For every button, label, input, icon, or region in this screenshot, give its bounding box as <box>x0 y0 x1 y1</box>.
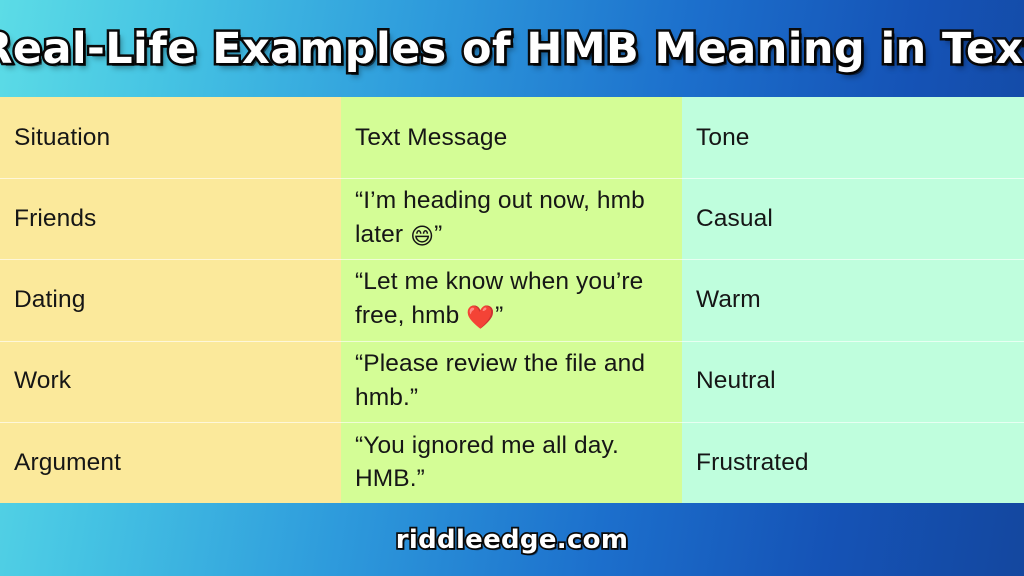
situation-value: Dating <box>14 283 85 317</box>
cell-tone: Neutral <box>682 341 1024 422</box>
grinning-face-emoji: 😄 <box>410 224 434 250</box>
situation-value: Argument <box>14 446 121 480</box>
cell-tone: Frustrated <box>682 422 1024 503</box>
column-header-situation-label: Situation <box>14 121 110 155</box>
tone-value: Casual <box>696 202 773 236</box>
cell-situation: Dating <box>0 259 341 340</box>
column-header-text-message: Text Message <box>341 97 682 178</box>
cell-tone: Casual <box>682 178 1024 259</box>
table-row: Argument “You ignored me all day. HMB.” … <box>0 422 1024 503</box>
cell-tone: Warm <box>682 259 1024 340</box>
tone-value: Neutral <box>696 364 776 398</box>
infographic-canvas: Real-Life Examples of HMB Meaning in Tex… <box>0 0 1024 576</box>
tone-value: Warm <box>696 283 761 317</box>
site-watermark: riddleedge.com <box>396 525 628 555</box>
message-closing-quote: ” <box>434 221 442 248</box>
message-text: “I’m heading out now, hmb later <box>355 187 645 248</box>
table-row: Dating “Let me know when you’re free, hm… <box>0 259 1024 340</box>
message-value: “Let me know when you’re free, hmb ❤️” <box>355 265 668 335</box>
message-value: “You ignored me all day. HMB.” <box>355 429 668 497</box>
column-header-situation: Situation <box>0 97 341 178</box>
tone-value: Frustrated <box>696 446 809 480</box>
cell-text-message: “Please review the file and hmb.” <box>341 341 682 422</box>
table-header-row: Situation Text Message Tone <box>0 97 1024 178</box>
table-row: Work “Please review the file and hmb.” N… <box>0 341 1024 422</box>
message-value: “I’m heading out now, hmb later 😄” <box>355 184 668 254</box>
cell-text-message: “Let me know when you’re free, hmb ❤️” <box>341 259 682 340</box>
column-header-tone: Tone <box>682 97 1024 178</box>
footer-banner: riddleedge.com <box>0 503 1024 576</box>
column-header-text-message-label: Text Message <box>355 121 507 155</box>
cell-text-message: “I’m heading out now, hmb later 😄” <box>341 178 682 259</box>
situation-value: Friends <box>14 202 96 236</box>
message-value: “Please review the file and hmb.” <box>355 347 668 415</box>
column-header-tone-label: Tone <box>696 121 750 155</box>
situation-value: Work <box>14 364 71 398</box>
red-heart-emoji: ❤️ <box>466 305 495 331</box>
message-closing-quote: ” <box>495 302 503 329</box>
cell-situation: Work <box>0 341 341 422</box>
cell-situation: Argument <box>0 422 341 503</box>
cell-text-message: “You ignored me all day. HMB.” <box>341 422 682 503</box>
cell-situation: Friends <box>0 178 341 259</box>
table-row: Friends “I’m heading out now, hmb later … <box>0 178 1024 259</box>
page-title: Real-Life Examples of HMB Meaning in Tex… <box>0 24 1024 74</box>
examples-table: Situation Text Message Tone Friends “I’m… <box>0 97 1024 503</box>
header-banner: Real-Life Examples of HMB Meaning in Tex… <box>0 0 1024 97</box>
